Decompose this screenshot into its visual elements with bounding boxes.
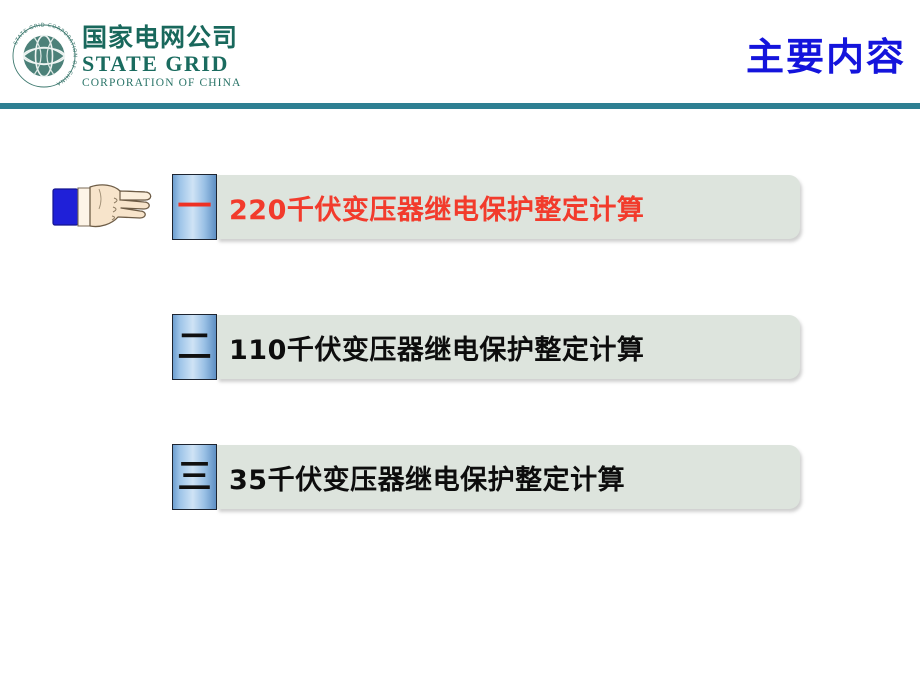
header-divider (0, 103, 920, 109)
item-numeral-badge-1: 一 (172, 174, 217, 240)
state-grid-logo: STATE GRID CORPORATION OF CHINA 国家电网公司 S… (10, 22, 241, 90)
state-grid-globe-emblem: STATE GRID CORPORATION OF CHINA (10, 22, 78, 90)
item-numeral-badge-2: 二 (172, 314, 217, 380)
logo-company-name-cn: 国家电网公司 (82, 25, 241, 51)
page-title: 主要内容 (746, 26, 906, 81)
logo-company-name-en: STATE GRID (82, 52, 241, 75)
pointing-hand-cursor-icon (52, 176, 158, 238)
item-label-3: 35千伏变压器继电保护整定计算 (217, 458, 625, 497)
logo-wordmark: 国家电网公司 STATE GRID CORPORATION OF CHINA (82, 23, 241, 90)
item-numeral-badge-3: 三 (172, 444, 217, 510)
slide-header: STATE GRID CORPORATION OF CHINA 国家电网公司 S… (0, 0, 920, 103)
item-label-bar-2[interactable]: 110千伏变压器继电保护整定计算 (217, 315, 800, 379)
item-label-2: 110千伏变压器继电保护整定计算 (217, 328, 644, 367)
item-label-bar-1[interactable]: 220千伏变压器继电保护整定计算 (217, 175, 800, 239)
logo-company-subtitle-en: CORPORATION OF CHINA (82, 77, 241, 90)
item-label-bar-3[interactable]: 35千伏变压器继电保护整定计算 (217, 445, 800, 509)
item-label-1: 220千伏变压器继电保护整定计算 (217, 188, 644, 227)
